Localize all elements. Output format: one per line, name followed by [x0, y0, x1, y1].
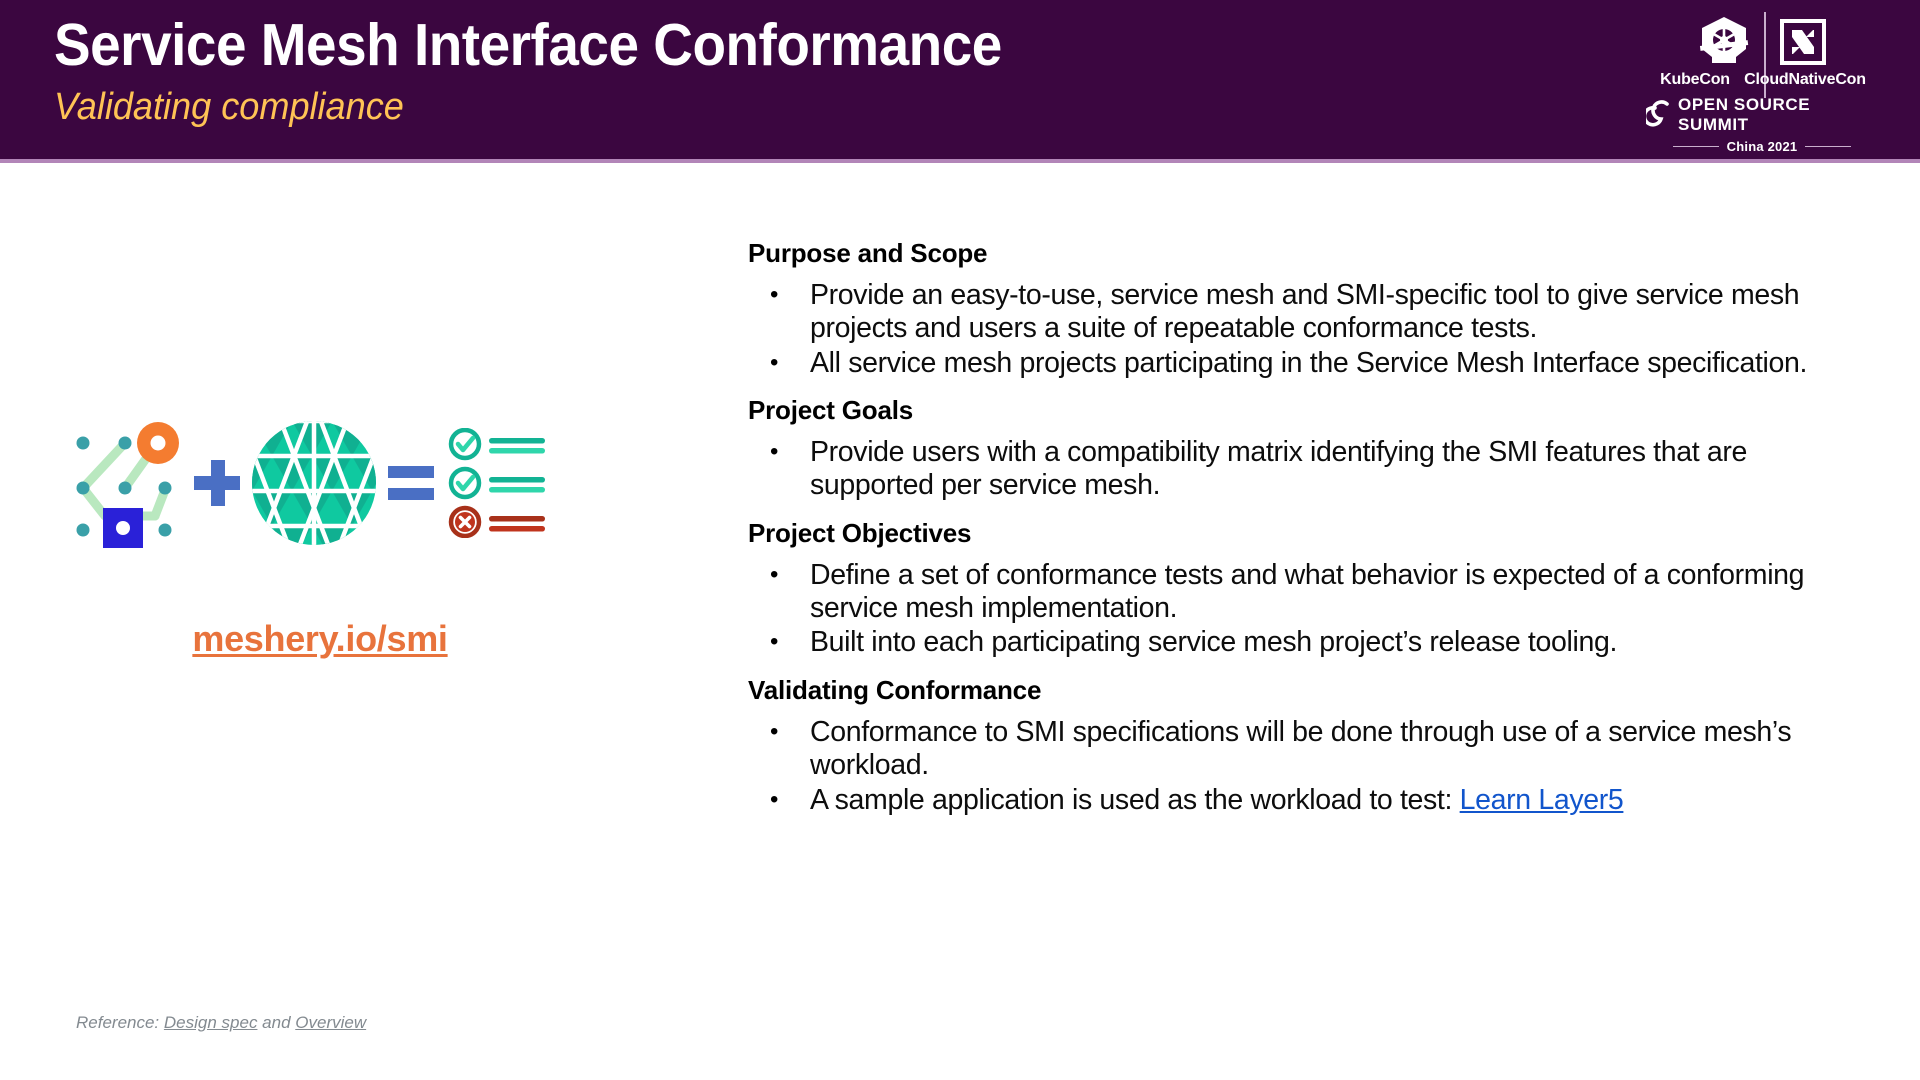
- design-spec-link[interactable]: Design spec: [164, 1013, 258, 1032]
- bullet-list: Provide an easy-to-use, service mesh and…: [748, 279, 1878, 379]
- page-subtitle: Validating compliance: [54, 86, 1022, 129]
- section-heading: Project Objectives: [748, 518, 1878, 549]
- meshery-link-container: meshery.io/smi: [0, 618, 640, 660]
- page-title: Service Mesh Interface Conformance: [54, 14, 1002, 78]
- meshery-sphere-icon: [249, 418, 379, 548]
- summit-spiral-icon: [1646, 97, 1676, 134]
- open-source-summit-row: OPEN SOURCE SUMMIT: [1646, 95, 1878, 135]
- conformance-equation: [55, 413, 645, 553]
- overview-link[interactable]: Overview: [295, 1013, 366, 1032]
- bullet-list: Provide users with a compatibility matri…: [748, 436, 1878, 502]
- section-heading: Purpose and Scope: [748, 238, 1878, 269]
- logo-marks-row: [1646, 8, 1878, 70]
- section-heading: Project Goals: [748, 395, 1878, 426]
- conference-logo: KubeCon CloudNativeCon OPEN SOURCE SUMMI…: [1646, 8, 1878, 148]
- cloudnativecon-label: CloudNativeCon: [1738, 71, 1872, 89]
- learn-layer5-link[interactable]: Learn Layer5: [1460, 784, 1624, 816]
- equals-operator: [379, 466, 443, 500]
- bullet-list: Define a set of conformance tests and wh…: [748, 559, 1878, 659]
- reference-footer: Reference: Design spec and Overview: [76, 1013, 366, 1033]
- kubecon-label: KubeCon: [1652, 71, 1738, 89]
- slide-content: Purpose and Scope Provide an easy-to-use…: [748, 238, 1878, 818]
- title-block: Service Mesh Interface Conformance Valid…: [54, 14, 1073, 129]
- bullet-list: Conformance to SMI specifications will b…: [748, 716, 1878, 816]
- slide-header: Service Mesh Interface Conformance Valid…: [0, 0, 1920, 163]
- section-purpose-and-scope: Purpose and Scope Provide an easy-to-use…: [748, 238, 1878, 379]
- conformance-results-icon: [443, 428, 553, 538]
- smi-logo-icon: [55, 418, 185, 548]
- list-item: Provide users with a compatibility matri…: [748, 436, 1878, 502]
- cloudnativecon-icon: [1780, 14, 1826, 70]
- list-item: Built into each participating service me…: [748, 626, 1878, 659]
- rule-right: [1805, 146, 1851, 147]
- kubernetes-helm-icon: [1698, 14, 1750, 70]
- reference-prefix: Reference:: [76, 1013, 164, 1032]
- list-item: Provide an easy-to-use, service mesh and…: [748, 279, 1878, 345]
- list-item: Conformance to SMI specifications will b…: [748, 716, 1878, 782]
- list-item-text: A sample application is used as the work…: [810, 784, 1460, 816]
- logo-names-row: KubeCon CloudNativeCon: [1646, 71, 1878, 89]
- location-year-label: China 2021: [1727, 139, 1798, 154]
- section-heading: Validating Conformance: [748, 675, 1878, 706]
- location-year-row: China 2021: [1646, 139, 1878, 154]
- section-validating-conformance: Validating Conformance Conformance to SM…: [748, 675, 1878, 816]
- rule-left: [1673, 146, 1719, 147]
- list-item: Define a set of conformance tests and wh…: [748, 559, 1878, 625]
- plus-operator: [185, 460, 249, 506]
- reference-joiner: and: [257, 1013, 295, 1032]
- list-item: All service mesh projects participating …: [748, 347, 1878, 380]
- section-project-goals: Project Goals Provide users with a compa…: [748, 395, 1878, 502]
- left-graphic-panel: meshery.io/smi: [0, 163, 745, 1080]
- list-item: A sample application is used as the work…: [748, 784, 1878, 817]
- meshery-smi-link[interactable]: meshery.io/smi: [192, 618, 447, 659]
- section-project-objectives: Project Objectives Define a set of confo…: [748, 518, 1878, 659]
- open-source-summit-label: OPEN SOURCE SUMMIT: [1678, 95, 1878, 135]
